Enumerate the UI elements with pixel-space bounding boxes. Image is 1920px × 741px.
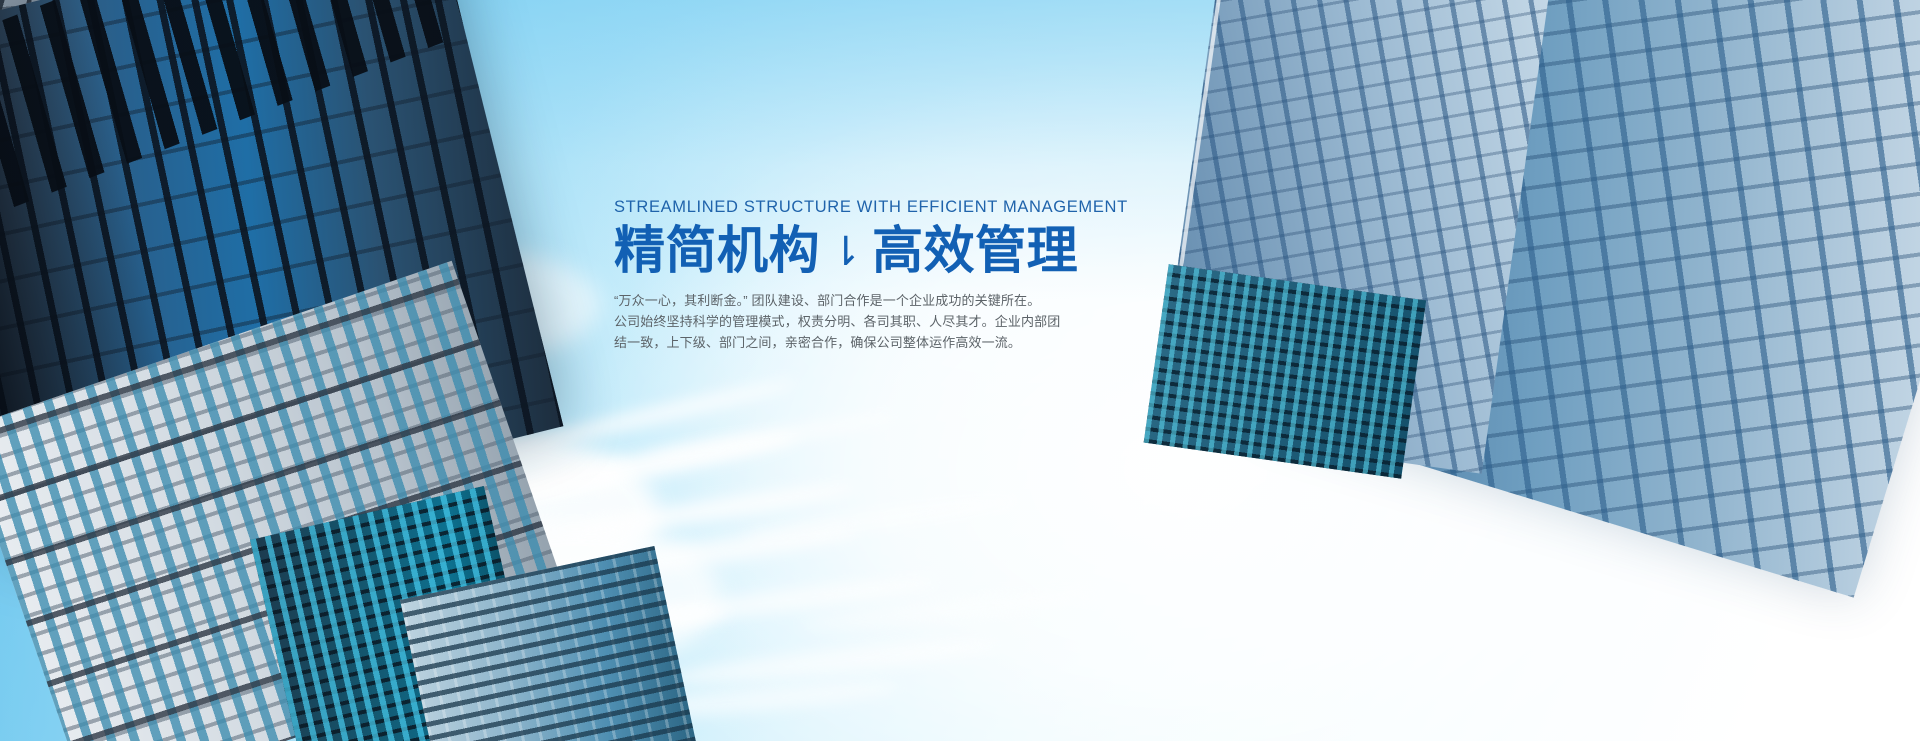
body-line: 公司始终坚持科学的管理模式，权责分明、各司其职、人尽其才。企业内部团 <box>614 311 1044 332</box>
right-tower-base-block <box>1144 264 1427 478</box>
body-line: 结一致，上下级、部门之间，亲密合作，确保公司整体运作高效一流。 <box>614 332 1044 353</box>
banner-copy: STREAMLINED STRUCTURE WITH EFFICIENT MAN… <box>614 198 1044 353</box>
headline-left: 精简机构 <box>614 222 820 279</box>
banner-headline: 精简机构 ⇂ 高效管理 <box>614 222 1044 279</box>
headline-right: 高效管理 <box>872 222 1078 279</box>
body-line: “万众一心，其利断金。” 团队建设、部门合作是一个企业成功的关键所在。 <box>614 290 1044 311</box>
banner-body: “万众一心，其利断金。” 团队建设、部门合作是一个企业成功的关键所在。 公司始终… <box>614 290 1044 353</box>
banner-eyebrow: STREAMLINED STRUCTURE WITH EFFICIENT MAN… <box>614 198 1044 218</box>
hero-banner: STREAMLINED STRUCTURE WITH EFFICIENT MAN… <box>0 0 1920 741</box>
headline-separator-icon: ⇂ <box>829 232 863 272</box>
base-block-windows <box>1144 264 1427 478</box>
